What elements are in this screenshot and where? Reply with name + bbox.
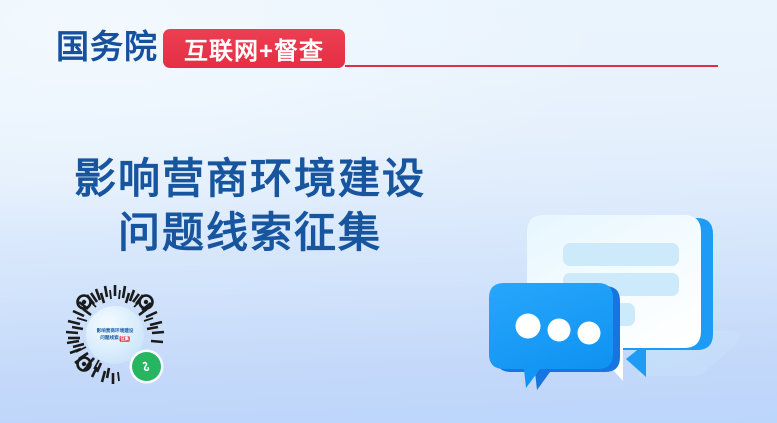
wechat-miniprogram-icon bbox=[132, 352, 161, 381]
illustration-svg bbox=[470, 185, 777, 410]
speech-bubbles-illustration bbox=[470, 185, 777, 410]
internet-plus-supervision-badge[interactable]: 互联网+督查 bbox=[163, 29, 345, 68]
header: 国务院 互联网+督查 bbox=[0, 0, 777, 80]
poster-banner: 国务院 互联网+督查 影响营商环境建设 问题线索征集 bbox=[0, 0, 777, 423]
qr-center-line-2: 问题线索 bbox=[100, 335, 118, 341]
title-line-1: 影响营商环境建设 bbox=[0, 152, 500, 206]
bubble-text-bar-1 bbox=[563, 243, 679, 266]
qr-code[interactable]: 影响营商环境建设 问题线索 征集 bbox=[56, 276, 174, 394]
header-divider-rule bbox=[345, 65, 718, 67]
typing-dot-3 bbox=[578, 322, 601, 345]
page-title: 影响营商环境建设 问题线索征集 bbox=[0, 152, 500, 260]
brand-title: 国务院 bbox=[56, 27, 158, 67]
qr-center-line-1: 影响营商环境建设 bbox=[97, 328, 134, 334]
typing-dot-2 bbox=[548, 319, 571, 342]
typing-dot-1 bbox=[516, 314, 541, 339]
qr-center-line-2-row: 问题线索 征集 bbox=[100, 335, 129, 341]
qr-center-tag: 征集 bbox=[120, 336, 130, 342]
badge-label: 互联网+督查 bbox=[163, 29, 345, 68]
title-line-2: 问题线索征集 bbox=[0, 206, 500, 260]
miniprogram-glyph bbox=[138, 358, 155, 375]
